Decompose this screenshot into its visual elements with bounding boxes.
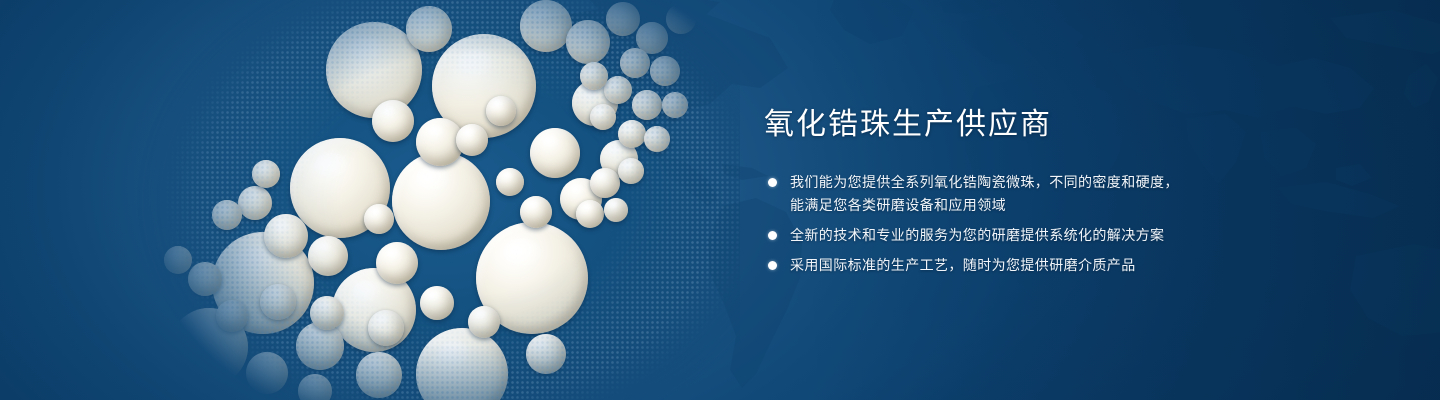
- bullet-dot-icon: [768, 261, 777, 270]
- banner-title: 氧化锆珠生产供应商: [764, 106, 1324, 144]
- bullet-dot-icon: [768, 231, 777, 240]
- feature-text-line: 能满足您各类研磨设备和应用领域: [790, 194, 1324, 217]
- banner-feature-list: 我们能为您提供全系列氧化锆陶瓷微珠，不同的密度和硬度， 能满足您各类研磨设备和应…: [764, 171, 1324, 277]
- zirconia-beads-photo: [120, 0, 740, 400]
- bead-cluster: [120, 0, 740, 400]
- feature-list-item: 全新的技术和专业的服务为您的研磨提供系统化的解决方案: [764, 224, 1324, 247]
- feature-text-line: 全新的技术和专业的服务为您的研磨提供系统化的解决方案: [790, 224, 1324, 247]
- feature-text-line: 我们能为您提供全系列氧化锆陶瓷微珠，不同的密度和硬度，: [790, 171, 1324, 194]
- bullet-dot-icon: [768, 178, 777, 187]
- feature-text-line: 采用国际标准的生产工艺，随时为您提供研磨介质产品: [790, 254, 1324, 277]
- feature-list-item: 我们能为您提供全系列氧化锆陶瓷微珠，不同的密度和硬度， 能满足您各类研磨设备和应…: [764, 171, 1324, 217]
- banner-text-content: 氧化锆珠生产供应商 我们能为您提供全系列氧化锆陶瓷微珠，不同的密度和硬度， 能满…: [764, 106, 1324, 277]
- hero-banner: 氧化锆珠生产供应商 我们能为您提供全系列氧化锆陶瓷微珠，不同的密度和硬度， 能满…: [0, 0, 1440, 400]
- feature-list-item: 采用国际标准的生产工艺，随时为您提供研磨介质产品: [764, 254, 1324, 277]
